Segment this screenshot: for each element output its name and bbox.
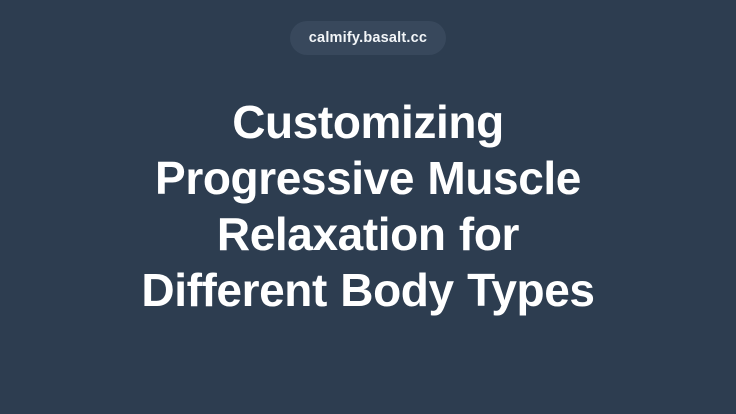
site-domain-badge[interactable]: calmify.basalt.cc [290, 21, 446, 55]
title-card: calmify.basalt.cc Customizing Progressiv… [0, 0, 736, 414]
headline-wrap: Customizing Progressive Muscle Relaxatio… [0, 94, 736, 318]
page-title-line-1: Customizing [48, 94, 688, 150]
page-title: Customizing Progressive Muscle Relaxatio… [48, 94, 688, 318]
page-title-line-3: Relaxation for [48, 206, 688, 262]
badge-row: calmify.basalt.cc [0, 21, 736, 55]
page-title-line-4: Different Body Types [48, 262, 688, 318]
site-domain-label: calmify.basalt.cc [309, 31, 427, 46]
page-title-line-2: Progressive Muscle [48, 150, 688, 206]
